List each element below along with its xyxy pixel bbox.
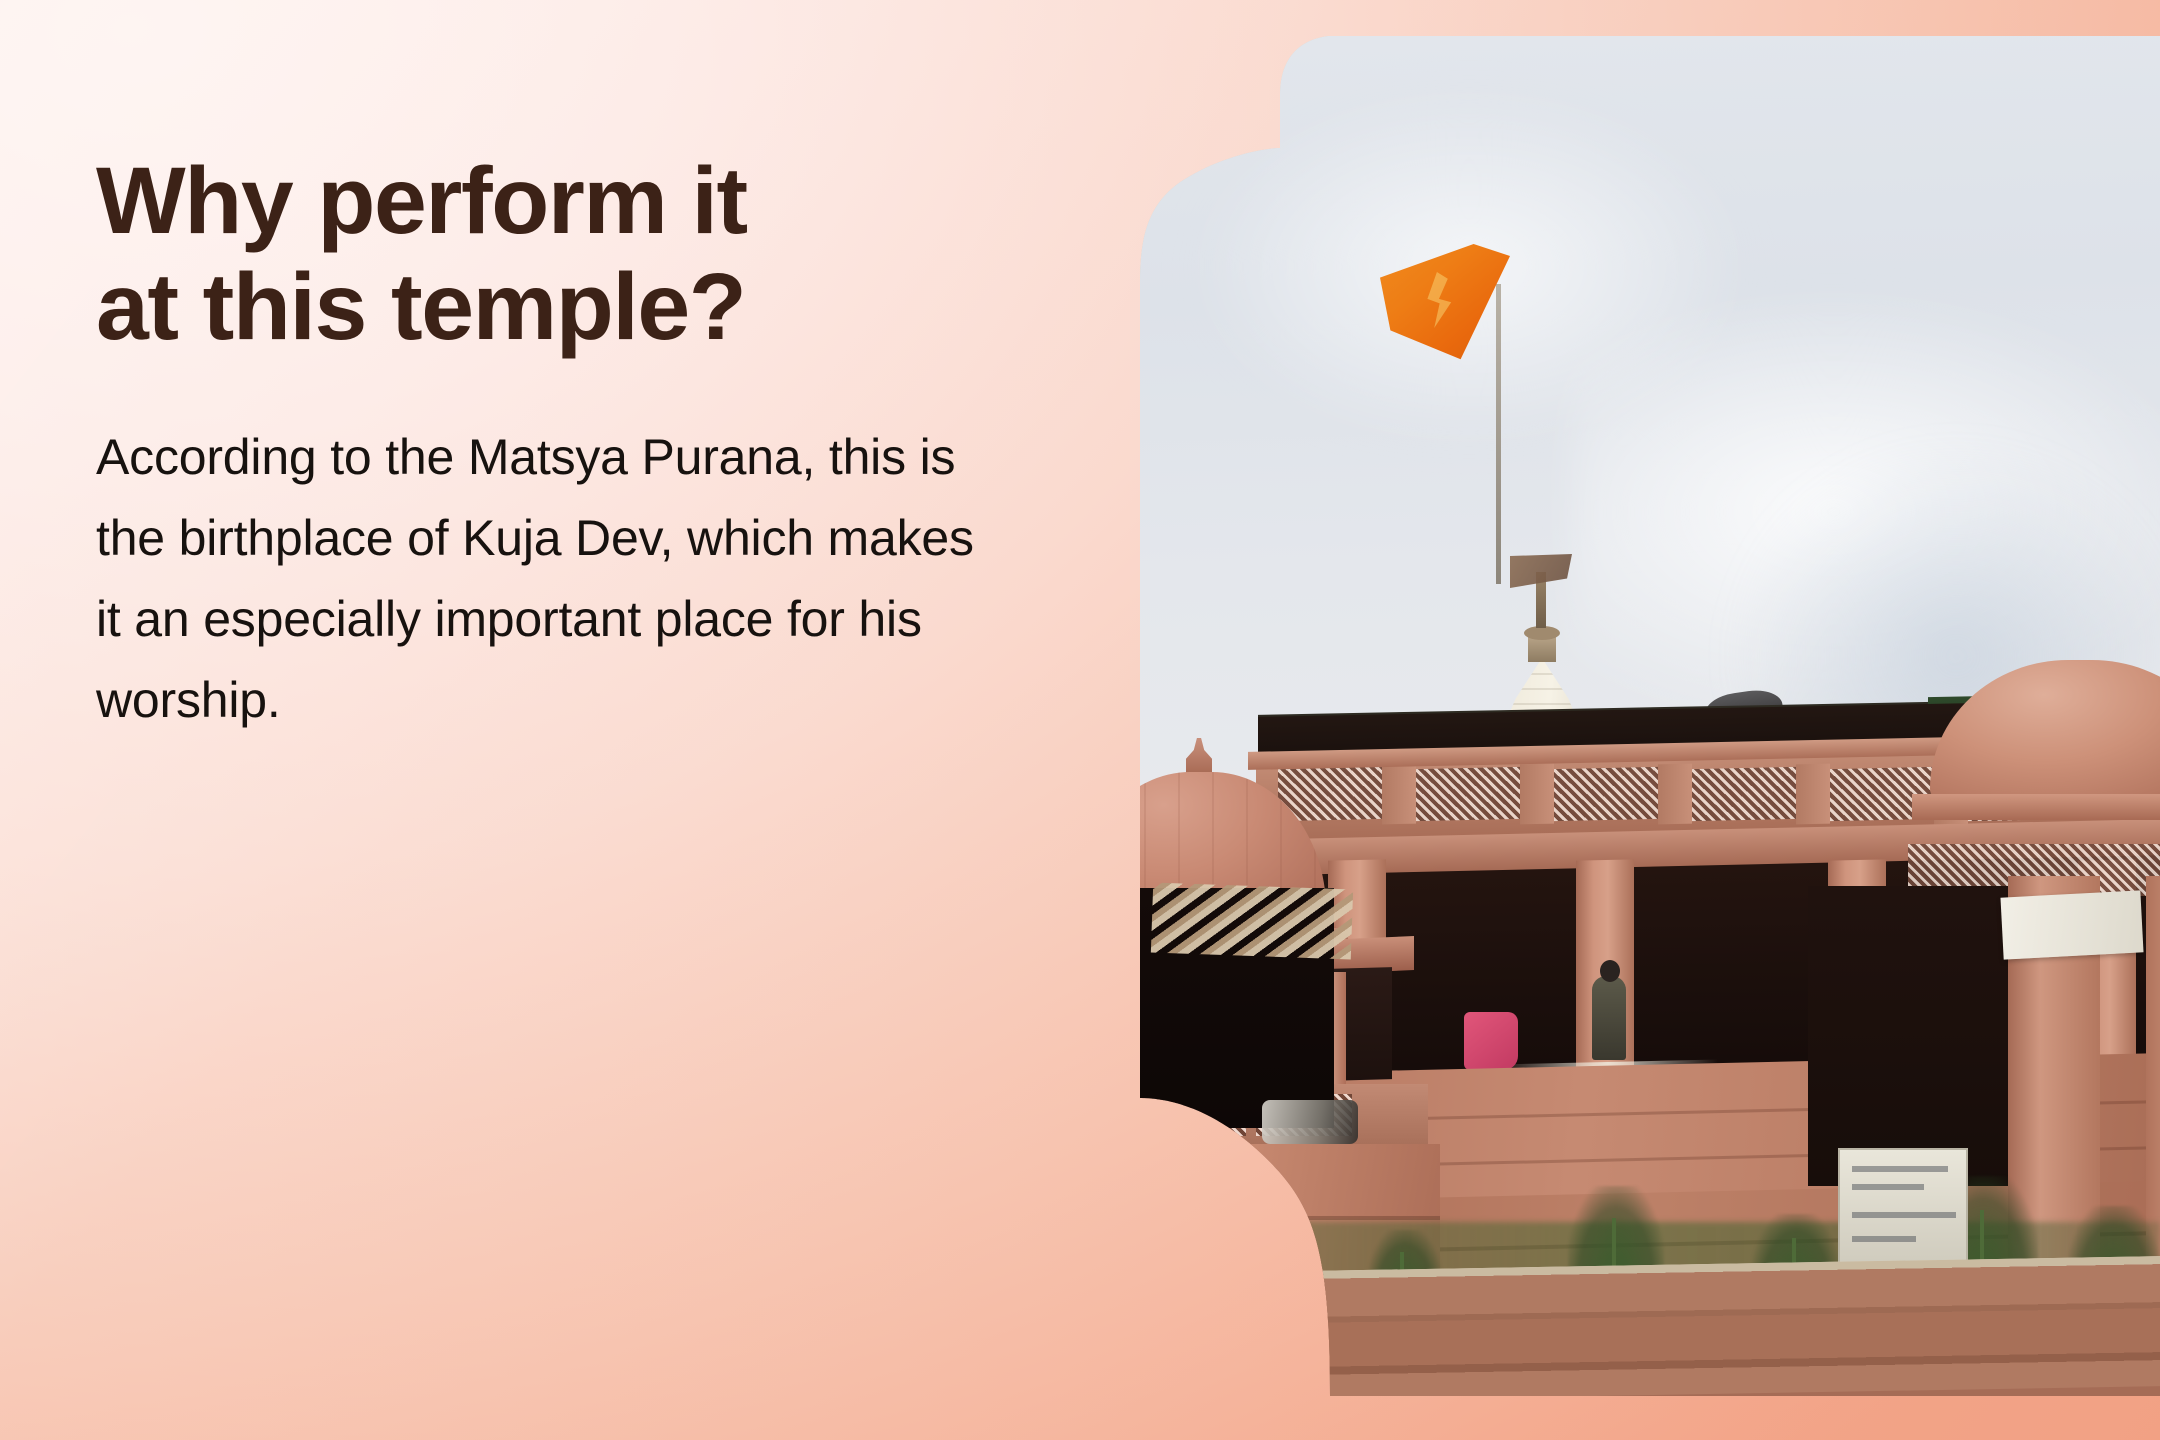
visitor-figure xyxy=(1592,976,1626,1060)
amalaka-disc xyxy=(1524,626,1560,640)
bench-leg xyxy=(1254,1332,1261,1358)
base-seam xyxy=(1028,1216,1440,1220)
temple-photo-panel xyxy=(1028,36,2160,1396)
pink-cloth xyxy=(1464,1012,1518,1070)
visitor-head xyxy=(1600,960,1620,982)
right-pavilion-opening xyxy=(1808,886,2008,1186)
notice-text-line xyxy=(1852,1184,1924,1190)
right-dome-drum xyxy=(1912,794,2160,820)
jali-screen xyxy=(1554,767,1658,821)
foreground-steps xyxy=(1028,1256,2160,1396)
plant-stem xyxy=(1234,1236,1238,1322)
parapet-pier xyxy=(1658,764,1692,825)
stone-stair-flight xyxy=(1151,883,1353,960)
flag-mast xyxy=(1496,284,1501,584)
page-title: Why perform it at this temple? xyxy=(96,148,1006,361)
notice-text-line xyxy=(1852,1236,1916,1242)
parked-vehicle xyxy=(1262,1100,1358,1144)
striped-bench xyxy=(1146,1292,1272,1334)
body-paragraph: According to the Matsya Purana, this is … xyxy=(96,417,1001,741)
jali-screen xyxy=(1692,767,1796,821)
white-signboard xyxy=(2000,890,2143,959)
jali-screen xyxy=(1416,767,1520,821)
notice-text-line xyxy=(1852,1212,1956,1218)
jali-screen xyxy=(1044,1094,1140,1136)
notice-board xyxy=(1838,1148,1968,1268)
slide-canvas: Why perform it at this temple? According… xyxy=(0,0,2160,1440)
parapet-pier xyxy=(1796,764,1830,825)
temple-photograph xyxy=(1028,36,2160,1396)
parapet-pier xyxy=(1520,764,1554,825)
notice-text-line xyxy=(1852,1166,1948,1172)
plant xyxy=(1200,1206,1286,1326)
text-column: Why perform it at this temple? According… xyxy=(96,148,1006,741)
bench-leg xyxy=(1156,1332,1163,1358)
temple-photo-clip xyxy=(1028,36,2160,1396)
